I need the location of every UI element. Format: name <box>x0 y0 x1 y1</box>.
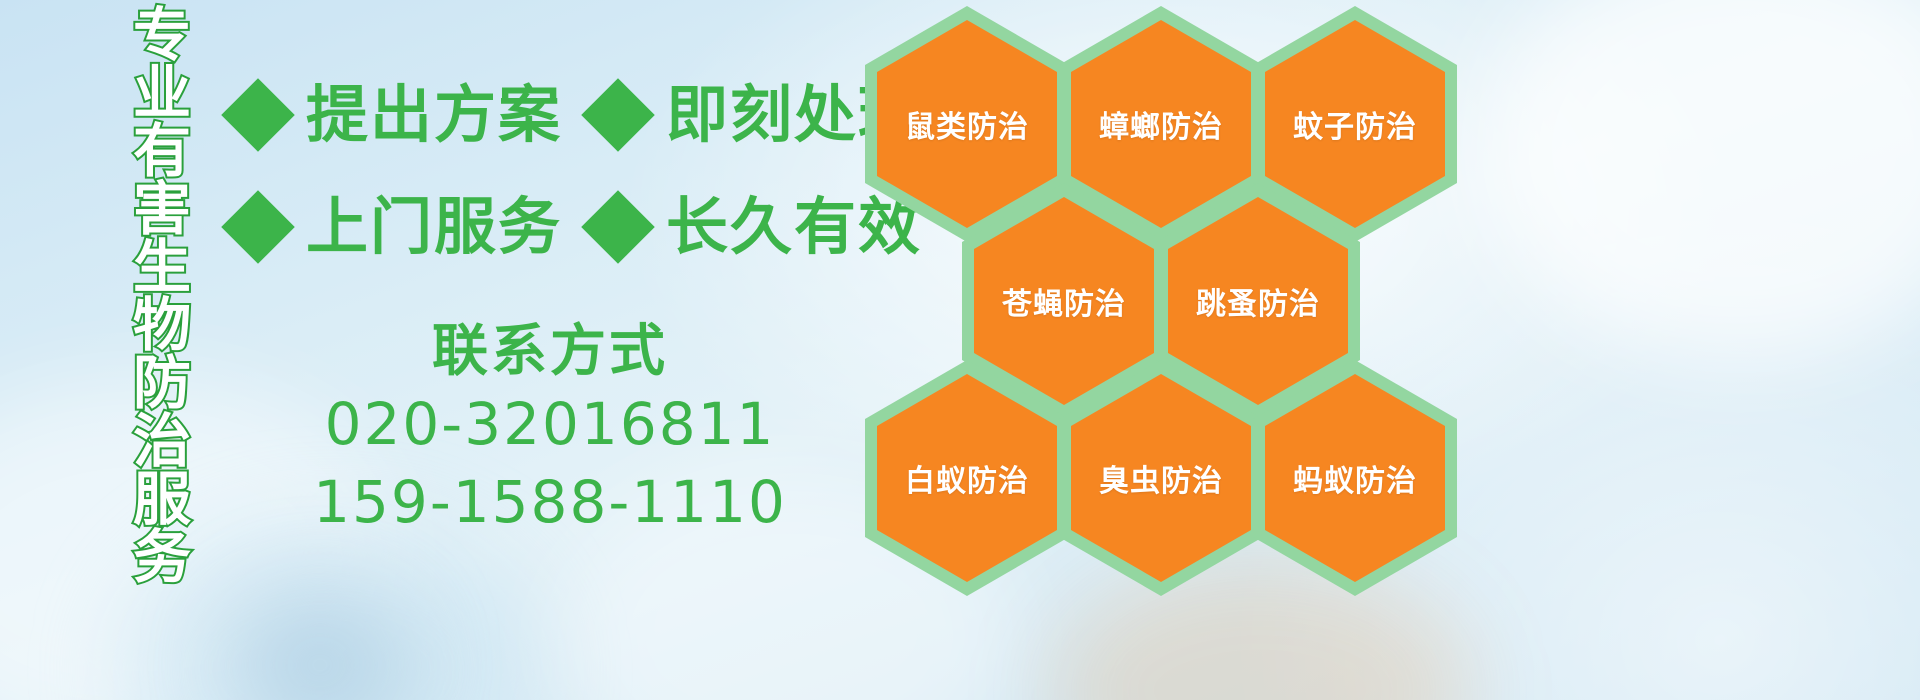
vertical-headline-char: 专 <box>133 6 191 64</box>
background-blob <box>1480 0 1920 360</box>
contact-heading: 联系方式 <box>300 318 800 386</box>
background-blob <box>230 590 410 700</box>
phone-number-landline[interactable]: 020-32016811 <box>300 386 800 464</box>
hexagon-inner: 苍蝇防治 <box>974 197 1154 405</box>
vertical-headline-char: 服 <box>133 470 191 528</box>
hexagon-inner: 白蚁防治 <box>877 374 1057 582</box>
hexagon-inner: 蚂蚁防治 <box>1265 374 1445 582</box>
vertical-headline-char: 业 <box>133 64 191 122</box>
hexagon-inner: 蚊子防治 <box>1265 20 1445 228</box>
diamond-icon <box>581 78 655 152</box>
diamond-icon <box>221 78 295 152</box>
feature-row-1: 提出方案 即刻处理 <box>232 84 922 146</box>
vertical-headline-char: 有 <box>133 122 191 180</box>
contact-block: 联系方式 020-32016811 159-1588-1110 <box>300 318 800 542</box>
promo-banner: 专 业 有 害 生 物 防 治 服 务 提出方案 即刻处理 上门服务 长久有效 … <box>0 0 1920 700</box>
vertical-headline-char: 物 <box>133 296 191 354</box>
vertical-headline-char: 害 <box>133 180 191 238</box>
hexagon-inner: 蟑螂防治 <box>1071 20 1251 228</box>
feature-label-onsite-service: 上门服务 <box>306 196 562 258</box>
feature-row-2: 上门服务 长久有效 <box>232 196 922 258</box>
service-label: 白蚁防治 <box>905 456 1029 500</box>
service-label: 蚂蚁防治 <box>1293 456 1417 500</box>
vertical-headline-char: 防 <box>133 354 191 412</box>
phone-number-mobile[interactable]: 159-1588-1110 <box>300 464 800 542</box>
hexagon-inner: 跳蚤防治 <box>1168 197 1348 405</box>
vertical-headline: 专 业 有 害 生 物 防 治 服 务 <box>106 6 218 566</box>
service-label: 臭虫防治 <box>1099 456 1223 500</box>
diamond-icon <box>581 190 655 264</box>
service-label: 跳蚤防治 <box>1196 279 1320 323</box>
hexagon-inner: 鼠类防治 <box>877 20 1057 228</box>
service-label: 鼠类防治 <box>905 102 1029 146</box>
service-label: 蚊子防治 <box>1293 102 1417 146</box>
feature-label-propose-plan: 提出方案 <box>306 84 562 146</box>
service-label: 蟑螂防治 <box>1099 102 1223 146</box>
vertical-headline-char: 治 <box>133 412 191 470</box>
vertical-headline-char: 务 <box>133 528 191 586</box>
diamond-icon <box>221 190 295 264</box>
service-hexagon-grid: 鼠类防治 蟑螂防治 蚊子防治 苍蝇防治 跳蚤防治 白蚁防治 <box>855 0 1455 700</box>
service-label: 苍蝇防治 <box>1002 279 1126 323</box>
hexagon-inner: 臭虫防治 <box>1071 374 1251 582</box>
vertical-headline-char: 生 <box>133 238 191 296</box>
